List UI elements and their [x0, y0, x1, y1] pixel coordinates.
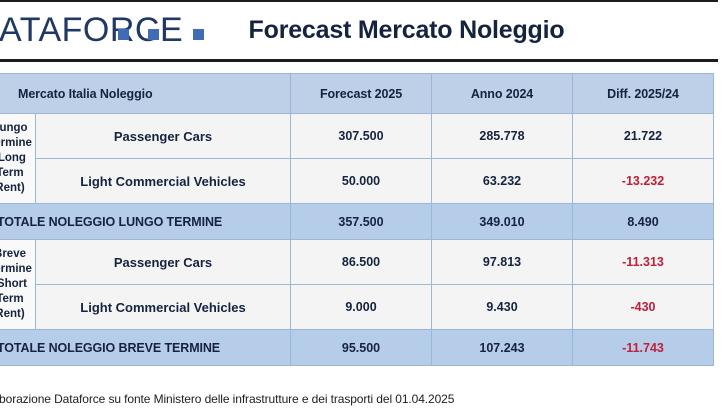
- cell-forecast-lcv-st: 9.000: [291, 285, 432, 330]
- cell-forecast-passenger-cars-lt: 307.500: [291, 114, 432, 159]
- group-label-lungo-termine: Lungo Termine (Long Term Rent): [0, 114, 36, 204]
- total-label-breve-termine: TOTALE NOLEGGIO BREVE TERMINE: [0, 330, 291, 366]
- row-label-lcv-st: Light Commercial Vehicles: [36, 285, 291, 330]
- table-row: Lungo Termine (Long Term Rent) Passenger…: [0, 114, 714, 159]
- cell-diff-lcv-st: -430: [573, 285, 714, 330]
- cell-diff-passenger-cars-st: -11.313: [573, 240, 714, 285]
- row-label-lcv-lt: Light Commercial Vehicles: [36, 159, 291, 204]
- cell-anno-lcv-st: 9.430: [432, 285, 573, 330]
- total-diff-breve-termine: -11.743: [573, 330, 714, 366]
- table-total-row-lungo-termine: TOTALE NOLEGGIO LUNGO TERMINE 357.500 34…: [0, 204, 714, 240]
- total-forecast-lungo-termine: 357.500: [291, 204, 432, 240]
- column-header-group: Mercato Italia Noleggio: [0, 74, 291, 114]
- column-header-diff: Diff. 2025/24: [573, 74, 714, 114]
- source-note: Elaborazione Dataforce su fonte Minister…: [0, 392, 722, 406]
- cell-anno-lcv-lt: 63.232: [432, 159, 573, 204]
- cell-anno-passenger-cars-lt: 285.778: [432, 114, 573, 159]
- table-total-row-breve-termine: TOTALE NOLEGGIO BREVE TERMINE 95.500 107…: [0, 330, 714, 366]
- total-anno-breve-termine: 107.243: [432, 330, 573, 366]
- slide-page: DATAFORCE Forecast Mercato Noleggio Merc…: [0, 0, 728, 415]
- cell-forecast-passenger-cars-st: 86.500: [291, 240, 432, 285]
- cell-diff-passenger-cars-lt: 21.722: [573, 114, 714, 159]
- total-forecast-breve-termine: 95.500: [291, 330, 432, 366]
- page-title: Forecast Mercato Noleggio: [0, 16, 718, 45]
- table-row: Breve Termine (Short Term Rent) Passenge…: [0, 240, 714, 285]
- row-label-passenger-cars-lt: Passenger Cars: [36, 114, 291, 159]
- column-header-anno: Anno 2024: [432, 74, 573, 114]
- group-label-breve-termine: Breve Termine (Short Term Rent): [0, 240, 36, 330]
- total-diff-lungo-termine: 8.490: [573, 204, 714, 240]
- forecast-table: Mercato Italia Noleggio Forecast 2025 An…: [0, 73, 714, 366]
- forecast-table-wrapper: Mercato Italia Noleggio Forecast 2025 An…: [0, 73, 713, 366]
- row-label-passenger-cars-st: Passenger Cars: [36, 240, 291, 285]
- table-row: Light Commercial Vehicles 9.000 9.430 -4…: [0, 285, 714, 330]
- table-row: Light Commercial Vehicles 50.000 63.232 …: [0, 159, 714, 204]
- cell-anno-passenger-cars-st: 97.813: [432, 240, 573, 285]
- table-header-row: Mercato Italia Noleggio Forecast 2025 An…: [0, 74, 714, 114]
- cell-diff-lcv-lt: -13.232: [573, 159, 714, 204]
- column-header-forecast: Forecast 2025: [291, 74, 432, 114]
- total-anno-lungo-termine: 349.010: [432, 204, 573, 240]
- cell-forecast-lcv-lt: 50.000: [291, 159, 432, 204]
- total-label-lungo-termine: TOTALE NOLEGGIO LUNGO TERMINE: [0, 204, 291, 240]
- slide-header-band: DATAFORCE Forecast Mercato Noleggio: [0, 0, 718, 62]
